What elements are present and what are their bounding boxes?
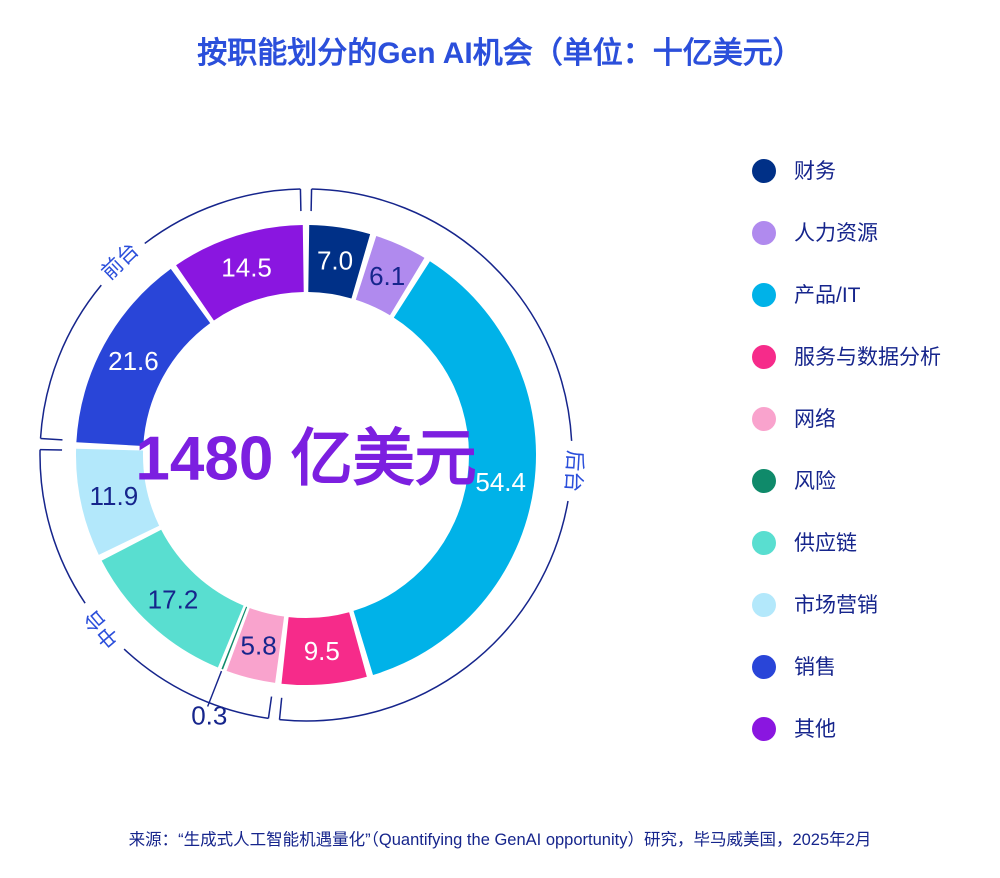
bracket-end-tick	[41, 438, 63, 439]
legend-item-label: 市场营销	[794, 595, 878, 616]
legend: 财务人力资源产品/IT服务与数据分析网络风险供应链市场营销销售其他	[752, 140, 1000, 760]
legend-item[interactable]: 财务	[752, 140, 1000, 202]
donut-chart-svg: 7.06.154.49.55.80.317.211.921.614.5 前台中台…	[0, 95, 740, 795]
group-bracket-label: 前台	[97, 239, 143, 285]
bracket-end-tick	[279, 698, 281, 720]
center-total-label: 1480 亿美元	[135, 425, 476, 494]
bracket-end-tick	[268, 697, 271, 719]
legend-item[interactable]: 其他	[752, 698, 1000, 760]
legend-color-swatch-icon	[752, 655, 776, 679]
legend-item-label: 销售	[794, 657, 836, 678]
donut-chart: 7.06.154.49.55.80.317.211.921.614.5 前台中台…	[0, 95, 740, 795]
legend-item[interactable]: 人力资源	[752, 202, 1000, 264]
legend-item[interactable]: 供应链	[752, 512, 1000, 574]
legend-item[interactable]: 服务与数据分析	[752, 326, 1000, 388]
legend-item[interactable]: 网络	[752, 388, 1000, 450]
legend-color-swatch-icon	[752, 717, 776, 741]
slice-value-label: 5.8	[241, 631, 277, 661]
slice-value-label: 7.0	[317, 246, 353, 276]
legend-item[interactable]: 产品/IT	[752, 264, 1000, 326]
legend-color-swatch-icon	[752, 159, 776, 183]
page-title: 按职能划分的Gen AI机会（单位：十亿美元）	[0, 28, 1000, 72]
legend-item-label: 其他	[794, 719, 836, 740]
legend-item-label: 网络	[794, 409, 836, 430]
legend-item[interactable]: 销售	[752, 636, 1000, 698]
legend-color-swatch-icon	[752, 469, 776, 493]
legend-color-swatch-icon	[752, 593, 776, 617]
legend-item-label: 产品/IT	[794, 285, 861, 306]
legend-item-label: 供应链	[794, 533, 857, 554]
group-bracket-label: 中台	[79, 605, 124, 652]
legend-item-label: 服务与数据分析	[794, 347, 941, 368]
group-bracket-label: 后台	[561, 450, 586, 493]
legend-color-swatch-icon	[752, 221, 776, 245]
slice-value-label: 14.5	[221, 253, 272, 283]
slice-value-label: 21.6	[108, 346, 159, 376]
slice-value-label: 17.2	[148, 585, 199, 615]
source-footnote: 来源：“生成式人工智能机遇量化”（Quantifying the GenAI o…	[0, 826, 1000, 850]
legend-color-swatch-icon	[752, 531, 776, 555]
legend-item[interactable]: 风险	[752, 450, 1000, 512]
slice-value-label: 11.9	[90, 481, 139, 511]
legend-item-label: 人力资源	[794, 223, 878, 244]
legend-color-swatch-icon	[752, 283, 776, 307]
slice-value-label: 6.1	[369, 261, 405, 291]
legend-item[interactable]: 市场营销	[752, 574, 1000, 636]
legend-color-swatch-icon	[752, 407, 776, 431]
slice-value-label: 54.4	[475, 467, 526, 497]
legend-item-label: 财务	[794, 161, 836, 182]
legend-color-swatch-icon	[752, 345, 776, 369]
slice-value-label: 0.3	[191, 701, 227, 731]
slice-value-label: 9.5	[304, 636, 340, 666]
legend-item-label: 风险	[794, 471, 836, 492]
